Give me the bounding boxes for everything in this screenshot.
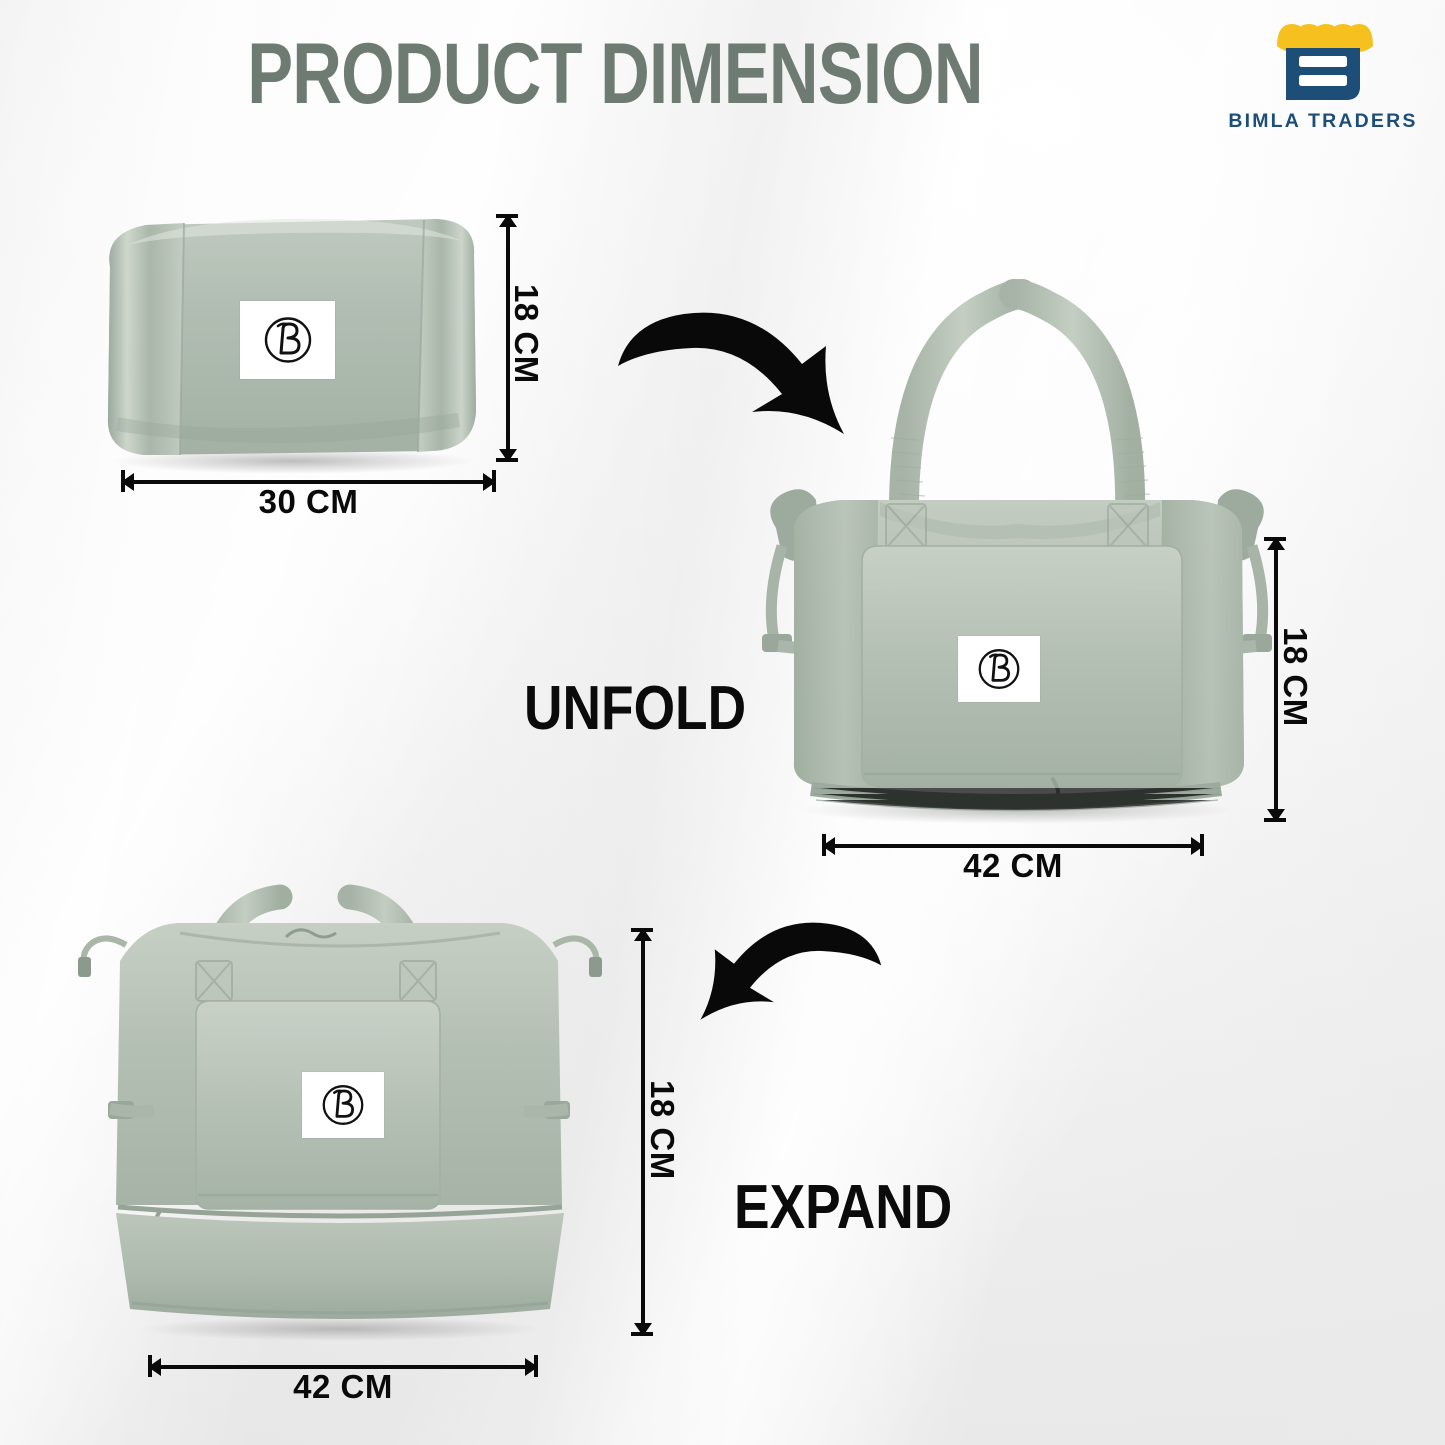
step-label-expand: EXPAND bbox=[734, 1177, 952, 1239]
storefront-shop-icon bbox=[1267, 18, 1379, 106]
folded-bag bbox=[88, 205, 488, 470]
logo-patch bbox=[958, 636, 1040, 702]
dim-arrow-top bbox=[1267, 537, 1285, 550]
b-monogram-icon bbox=[256, 308, 320, 372]
dimension-label-expanded-height: 18 CM bbox=[643, 1080, 681, 1180]
dim-arrow-top bbox=[634, 928, 652, 941]
dimension-label-folded-height: 18 CM bbox=[507, 284, 545, 384]
logo-patch bbox=[240, 301, 335, 379]
infographic-canvas: PRODUCT DIMENSION BIMLA TRADERS bbox=[0, 0, 1445, 1445]
dim-arrow-bottom bbox=[634, 1323, 652, 1336]
curved-arrow-left-icon bbox=[686, 902, 886, 1032]
unfolded-duffle-bag bbox=[752, 288, 1282, 828]
b-monogram-icon bbox=[971, 641, 1027, 697]
dimension-label-duffle-width: 42 CM bbox=[822, 847, 1204, 885]
step-label-unfold: UNFOLD bbox=[524, 678, 746, 740]
logo-patch-expanded bbox=[302, 1072, 384, 1138]
dimension-label-expanded-width: 42 CM bbox=[148, 1368, 538, 1406]
dimension-label-folded-width: 30 CM bbox=[121, 483, 496, 521]
dim-arrow-bottom bbox=[1267, 809, 1285, 822]
brand-name: BIMLA TRADERS bbox=[1228, 110, 1417, 133]
page-title: PRODUCT DIMENSION bbox=[123, 28, 1107, 120]
dimension-label-duffle-height: 18 CM bbox=[1276, 627, 1314, 727]
dim-arrow-top bbox=[499, 214, 517, 227]
dim-arrow-bottom bbox=[499, 449, 517, 462]
brand-logo: BIMLA TRADERS bbox=[1223, 18, 1423, 146]
b-monogram-icon bbox=[315, 1077, 371, 1133]
